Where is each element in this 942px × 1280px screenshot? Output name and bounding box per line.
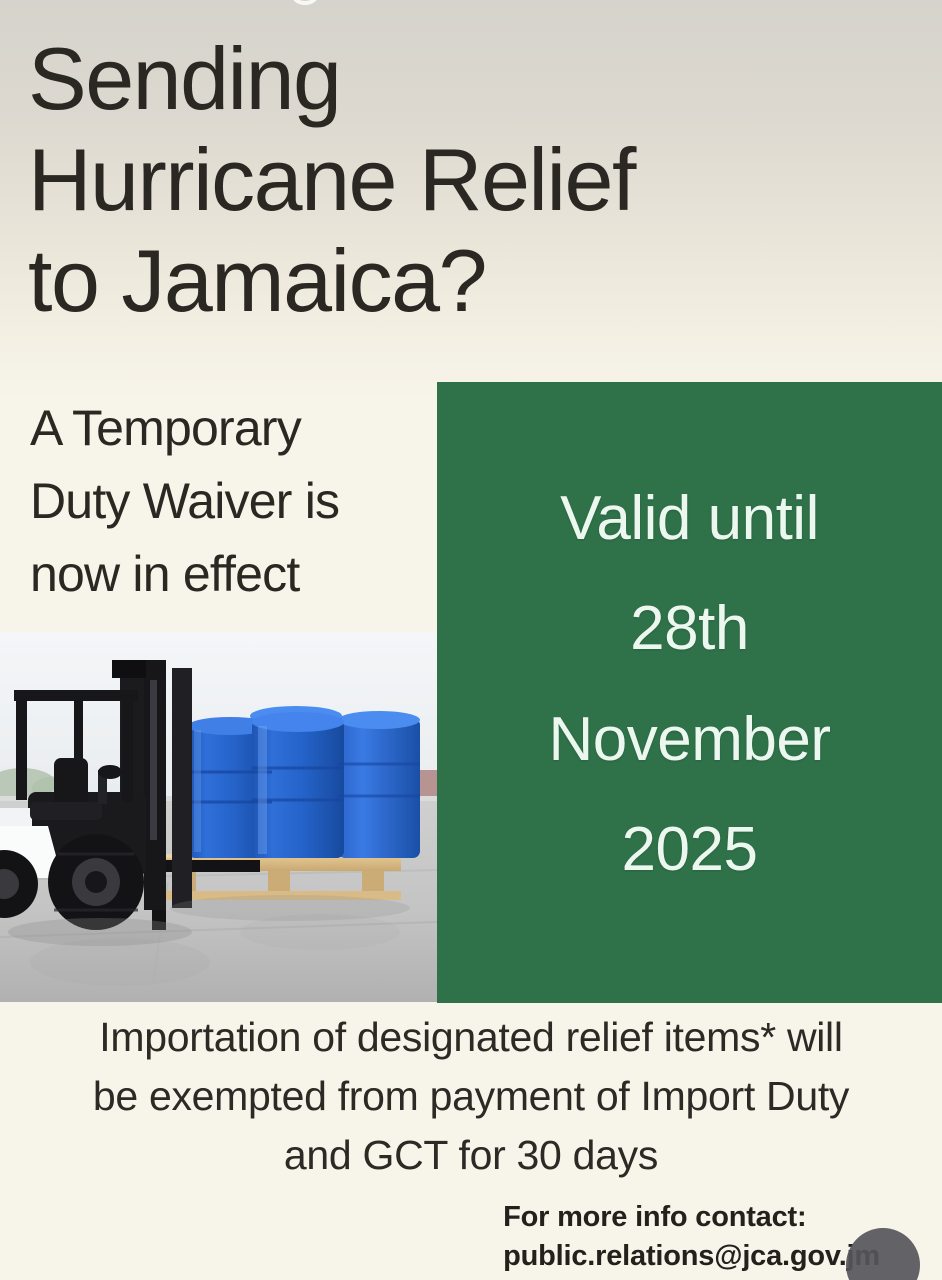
forklift-illustration <box>0 632 437 1002</box>
validity-month: November <box>455 685 924 795</box>
body-line-3: and GCT for 30 days <box>50 1126 892 1185</box>
headline-line-1: Sending <box>28 28 788 129</box>
contact-email[interactable]: public.relations@jca.gov.jm <box>503 1237 880 1276</box>
subtitle: A Temporary Duty Waiver is now in effect <box>30 392 430 611</box>
headline-line-2: Hurricane Relief <box>28 129 788 230</box>
cropped-glyph-sliver <box>292 0 318 5</box>
validity-day: 28th <box>455 574 924 684</box>
body-line-1: Importation of designated relief items* … <box>50 1008 892 1067</box>
page-title: Sending Hurricane Relief to Jamaica? <box>28 28 788 332</box>
forklift-photo <box>0 632 437 1002</box>
hurricane-relief-duty-waiver-poster: Sending Hurricane Relief to Jamaica? A T… <box>0 0 942 1280</box>
body-text: Importation of designated relief items* … <box>0 1008 942 1185</box>
body-line-2: be exempted from payment of Import Duty <box>50 1067 892 1126</box>
validity-year: 2025 <box>455 795 924 905</box>
subtitle-line-2: Duty Waiver is <box>30 465 430 538</box>
contact-block: For more info contact: public.relations@… <box>503 1198 880 1275</box>
subtitle-line-1: A Temporary <box>30 392 430 465</box>
validity-panel: Valid until 28th November 2025 <box>437 382 942 1003</box>
subtitle-line-3: now in effect <box>30 538 430 611</box>
blue-drums <box>188 706 420 858</box>
validity-label: Valid until <box>455 464 924 574</box>
headline-line-3: to Jamaica? <box>28 230 788 331</box>
contact-label: For more info contact: <box>503 1198 880 1237</box>
